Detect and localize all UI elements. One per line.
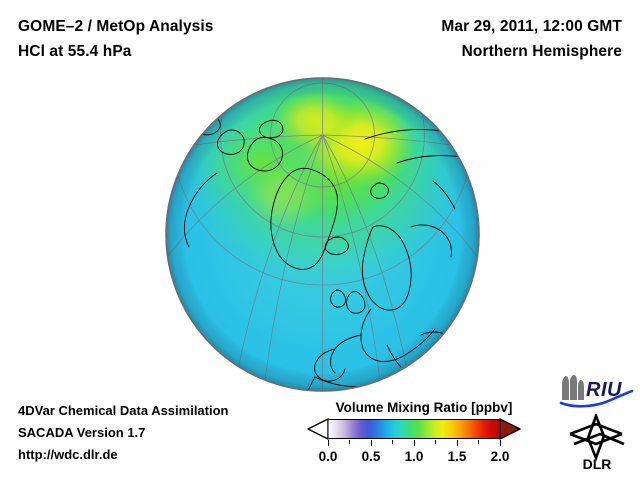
tick-label-4: 2.0 <box>491 449 510 464</box>
datetime-label: Mar 29, 2011, 12:00 GMT <box>441 14 622 39</box>
url-label[interactable]: http://wdc.dlr.de <box>18 444 229 466</box>
tick-major-2 <box>414 440 415 446</box>
orthographic-projection <box>165 77 480 392</box>
dlr-bird-icon <box>570 416 624 458</box>
limb-shading <box>166 78 479 391</box>
colorbar-over-arrow <box>500 419 520 439</box>
tick-minor-2 <box>392 440 393 444</box>
tick-label-2: 1.0 <box>405 449 424 464</box>
tick-label-1: 0.5 <box>362 449 381 464</box>
colorbar-body <box>306 418 542 440</box>
tick-major-3 <box>457 440 458 446</box>
dlr-wordmark: DLR <box>583 456 612 472</box>
colorbar-title: Volume Mixing Ratio [ppbv] <box>306 400 542 415</box>
version-label: SACADA Version 1.7 <box>18 422 229 444</box>
tick-minor-3 <box>435 440 436 444</box>
tick-major-4 <box>500 440 501 446</box>
tick-minor-1 <box>349 440 350 444</box>
figure-canvas: GOME–2 / MetOp Analysis HCl at 55.4 hPa … <box>0 0 640 480</box>
colorbar-ticks <box>306 440 542 448</box>
tick-label-0: 0.0 <box>319 449 338 464</box>
colorbar-under-arrow <box>308 419 328 439</box>
riu-towers-icon <box>562 375 584 400</box>
dlr-logo: DLR <box>566 414 628 472</box>
colorbar: Volume Mixing Ratio [ppbv] <box>306 400 542 467</box>
tick-major-0 <box>328 440 329 446</box>
tick-minor-4 <box>478 440 479 444</box>
hemisphere-label: Northern Hemisphere <box>441 39 622 64</box>
riu-logo: RIU <box>558 374 634 408</box>
colorbar-tick-labels: 0.0 0.5 1.0 1.5 2.0 <box>306 449 542 467</box>
header-right: Mar 29, 2011, 12:00 GMT Northern Hemisph… <box>441 14 622 64</box>
tick-label-3: 1.5 <box>448 449 467 464</box>
species-level-label: HCl at 55.4 hPa <box>18 39 214 64</box>
tick-major-1 <box>371 440 372 446</box>
assimilation-label: 4DVar Chemical Data Assimilation <box>18 400 229 422</box>
colorbar-bar <box>328 420 500 439</box>
dlr-logo-mark: DLR <box>566 414 628 472</box>
header-left: GOME–2 / MetOp Analysis HCl at 55.4 hPa <box>18 14 214 64</box>
riu-logo-mark: RIU <box>558 374 634 408</box>
colorbar-gradient <box>306 418 542 440</box>
globe-map <box>165 77 480 392</box>
instrument-title: GOME–2 / MetOp Analysis <box>18 14 214 39</box>
footer-left: 4DVar Chemical Data Assimilation SACADA … <box>18 400 229 466</box>
